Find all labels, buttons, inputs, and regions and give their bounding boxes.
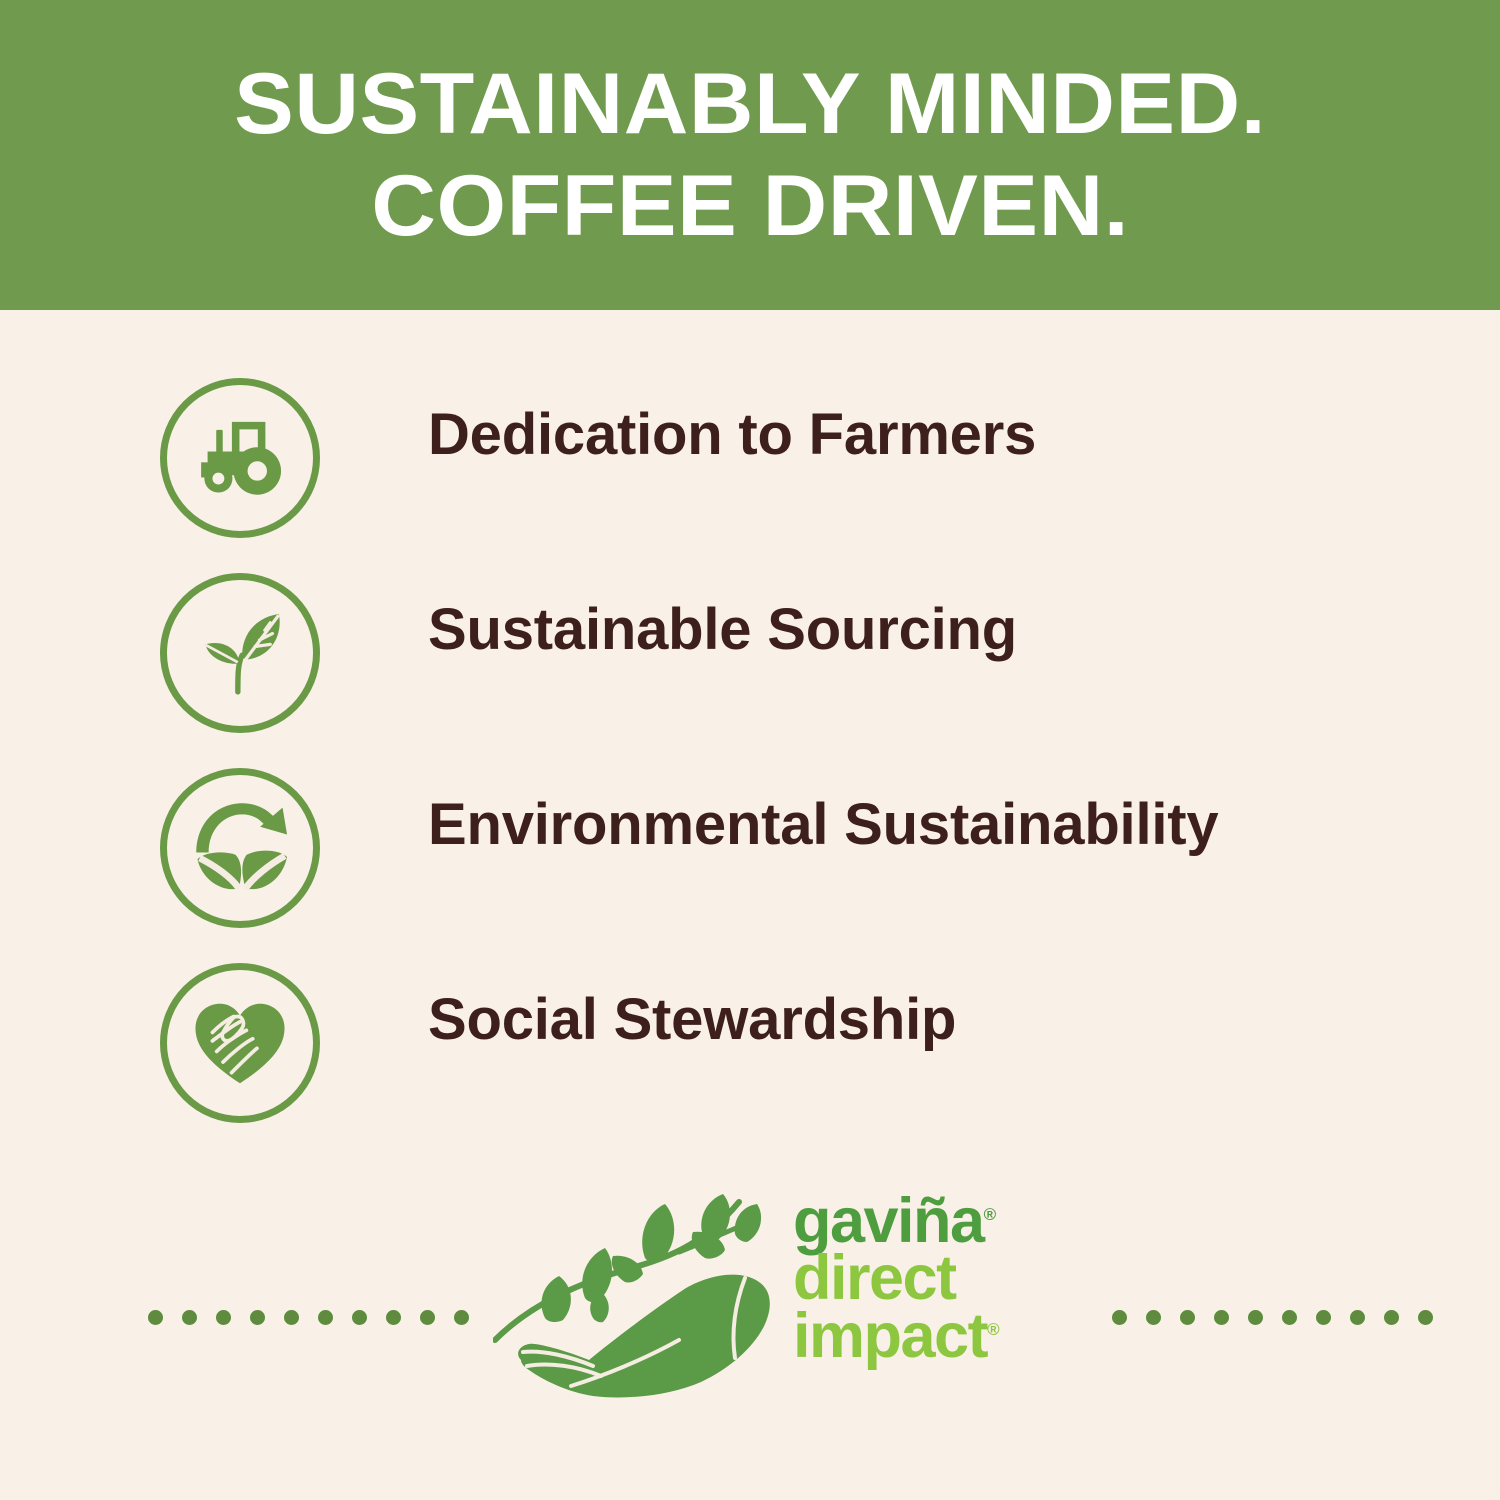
registered-mark-icon: ® (987, 1320, 1000, 1339)
recycle-leaves-icon (160, 768, 320, 928)
divider-dot (284, 1310, 299, 1325)
handshake-heart-icon (160, 963, 320, 1123)
feature-row-dedication-to-farmers: Dedication to Farmers (0, 378, 1500, 573)
divider-dot (1418, 1310, 1433, 1325)
tractor-icon (160, 378, 320, 538)
divider-dot (216, 1310, 231, 1325)
divider-dot (454, 1310, 469, 1325)
brand-word-direct: direct (793, 1251, 1033, 1306)
feature-label-dedication-to-farmers: Dedication to Farmers (428, 406, 1036, 464)
divider-dots-right (1112, 1310, 1433, 1325)
divider-dot (352, 1310, 367, 1325)
divider-dots-left (148, 1310, 469, 1325)
divider-dot (1146, 1310, 1161, 1325)
feature-row-sustainable-sourcing: Sustainable Sourcing (0, 573, 1500, 768)
brand-word-gavina: gaviña® (793, 1194, 1033, 1249)
divider-dot (1214, 1310, 1229, 1325)
divider-dot (1180, 1310, 1195, 1325)
divider-dot (1384, 1310, 1399, 1325)
divider-dot (318, 1310, 333, 1325)
sustainability-infographic: SUSTAINABLY MINDED. COFFEE DRIVEN. (0, 0, 1500, 1500)
brand-logo-lockup: gaviña® direct impact® (493, 1190, 1023, 1405)
divider-dot (420, 1310, 435, 1325)
leaf-sprout-icon (160, 573, 320, 733)
brand-wordmark: gaviña® direct impact® (793, 1194, 1033, 1364)
divider-dot (386, 1310, 401, 1325)
brand-word-impact: impact® (793, 1309, 1033, 1364)
divider-dot (1316, 1310, 1331, 1325)
header-banner: SUSTAINABLY MINDED. COFFEE DRIVEN. (0, 0, 1500, 310)
feature-row-environmental-sustainability: Environmental Sustainability (0, 768, 1500, 963)
divider-dot (148, 1310, 163, 1325)
registered-mark-icon: ® (984, 1205, 997, 1224)
divider-dot (182, 1310, 197, 1325)
headline-line-2: COFFEE DRIVEN. (371, 158, 1129, 254)
divider-dot (1350, 1310, 1365, 1325)
divider-dot (250, 1310, 265, 1325)
feature-label-environmental-sustainability: Environmental Sustainability (428, 796, 1218, 854)
feature-label-sustainable-sourcing: Sustainable Sourcing (428, 601, 1017, 659)
headline-line-1: SUSTAINABLY MINDED. (234, 56, 1266, 152)
divider-dot (1248, 1310, 1263, 1325)
feature-list: Dedication to Farmers (0, 378, 1500, 1158)
hand-holding-coffee-branch-icon (493, 1190, 783, 1407)
divider-dot (1282, 1310, 1297, 1325)
divider-dot (1112, 1310, 1127, 1325)
feature-label-social-stewardship: Social Stewardship (428, 991, 956, 1049)
feature-row-social-stewardship: Social Stewardship (0, 963, 1500, 1158)
